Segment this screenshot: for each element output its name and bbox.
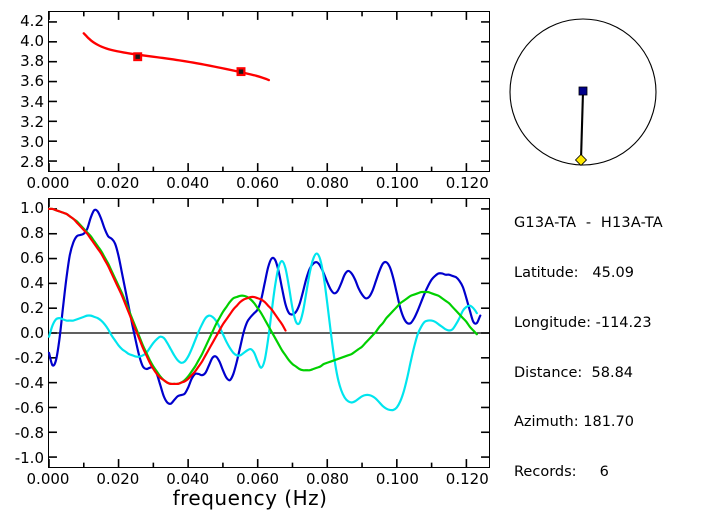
y-tick-label: 3.6 <box>2 74 44 89</box>
dispersion-marker-2 <box>237 67 246 76</box>
cross-correlation-plot <box>48 198 490 468</box>
y-tick-label: -0.4 <box>2 376 44 391</box>
y-tick-label: -0.6 <box>2 401 44 416</box>
station-pair-label: G13A-TA - H13A-TA <box>514 215 704 232</box>
station-map-inset <box>512 8 688 178</box>
y-tick-label: 3.4 <box>2 95 44 110</box>
distance-value: 58.84 <box>592 365 634 381</box>
reference-envelope-red <box>49 209 286 384</box>
azimuth-label: Azimuth: <box>514 414 579 430</box>
cross-correlation-canvas <box>49 199 489 467</box>
longitude-label: Longitude: <box>514 315 591 331</box>
x-tick-label: 0.080 <box>294 472 362 487</box>
latitude-row: Latitude: 45.09 <box>514 265 704 282</box>
y-tick-label: 1.0 <box>2 201 44 216</box>
y-tick-label: 0.8 <box>2 226 44 241</box>
records-label: Records: <box>514 464 577 480</box>
x-tick-label: 0.000 <box>14 472 82 487</box>
x-tick-label: 0.100 <box>363 176 431 191</box>
station-info-panel: G13A-TA - H13A-TA Latitude: 45.09 Longit… <box>514 182 704 497</box>
y-tick-label: -0.2 <box>2 351 44 366</box>
records-row: Records: 6 <box>514 464 704 481</box>
x-tick-label: 0.060 <box>224 176 292 191</box>
latitude-value: 45.09 <box>592 265 634 281</box>
observed-waveform-blue <box>49 210 480 404</box>
x-tick-label: 0.120 <box>433 472 501 487</box>
y-tick-label: 0.6 <box>2 251 44 266</box>
center-station-dot <box>579 87 587 95</box>
x-tick-label: 0.080 <box>294 176 362 191</box>
x-tick-label: 0.040 <box>154 472 222 487</box>
y-tick-label: 2.8 <box>2 155 44 170</box>
x-tick-label: 0.060 <box>224 472 292 487</box>
latitude-label: Latitude: <box>514 265 579 281</box>
y-tick-label: 3.8 <box>2 54 44 69</box>
y-tick-label: 0.2 <box>2 301 44 316</box>
map-inset-canvas <box>512 8 688 178</box>
y-tick-label: 4.2 <box>2 14 44 29</box>
y-tick-label: 3.0 <box>2 135 44 150</box>
x-tick-label: 0.020 <box>84 472 152 487</box>
x-tick-label: 0.040 <box>154 176 222 191</box>
y-tick-label: -1.0 <box>2 451 44 466</box>
longitude-value: -114.23 <box>596 315 652 331</box>
x-tick-label: 0.100 <box>363 472 431 487</box>
dispersion-curve-plot <box>48 11 490 172</box>
x-tick-label: 0.020 <box>84 176 152 191</box>
x-tick-label: 0.120 <box>433 176 501 191</box>
y-tick-label: -0.8 <box>2 426 44 441</box>
y-tick-label: 0.4 <box>2 276 44 291</box>
distance-row: Distance: 58.84 <box>514 365 704 382</box>
x-tick-label: 0.000 <box>14 176 82 191</box>
dispersion-marker-1 <box>133 52 142 61</box>
y-tick-label: 4.0 <box>2 34 44 49</box>
records-value: 6 <box>600 464 609 480</box>
y-tick-label: 3.2 <box>2 115 44 130</box>
dispersion-curve-canvas <box>49 12 489 171</box>
azimuth-value: 181.70 <box>583 414 634 430</box>
distance-label: Distance: <box>514 365 582 381</box>
x-axis-title: frequency (Hz) <box>0 486 500 510</box>
y-tick-label: 0.0 <box>2 326 44 341</box>
azimuth-row: Azimuth: 181.70 <box>514 414 704 431</box>
longitude-row: Longitude: -114.23 <box>514 315 704 332</box>
